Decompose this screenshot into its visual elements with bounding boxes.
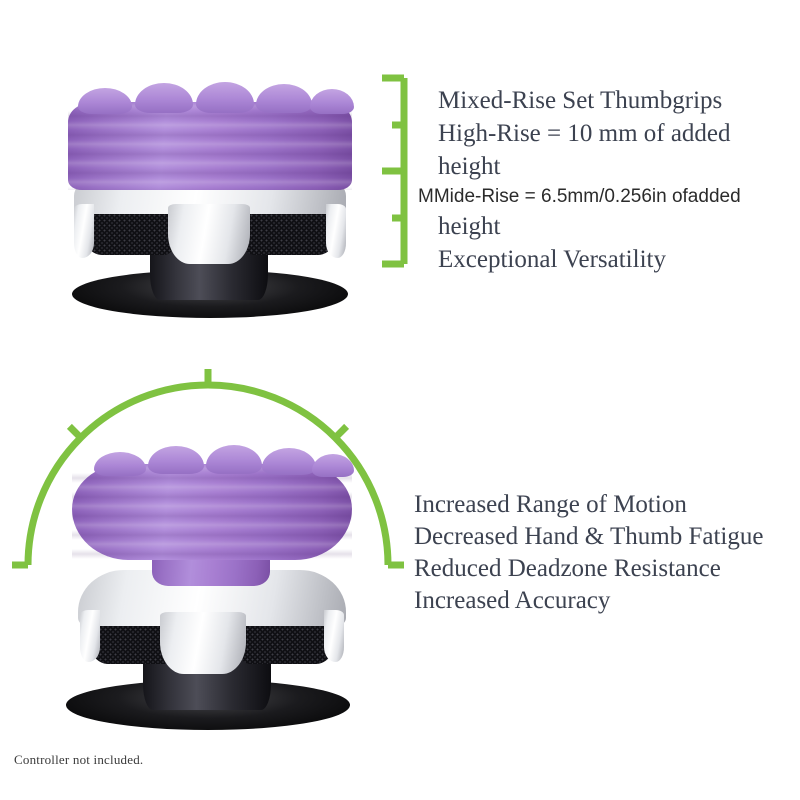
feature-line: height [438, 214, 741, 239]
white-shell-center-strut [168, 204, 250, 264]
cap-nub [78, 88, 132, 114]
feature-line-midrise: MMide-Rise = 6.5mm/0.256in ofadded [418, 187, 741, 206]
cap-nub [262, 448, 316, 475]
cap-nub [312, 454, 354, 477]
high-rise-thumbgrip-image [60, 80, 360, 320]
purple-cap-midrise [72, 464, 352, 560]
white-shell-center-strut [160, 612, 246, 674]
cap-nub [94, 452, 146, 476]
purple-cap-highrise [68, 102, 352, 190]
white-shell-left-edge [74, 204, 94, 258]
high-rise-feature-list: Mixed-Rise Set Thumbgrips High-Rise = 10… [438, 88, 741, 280]
cap-ribbing [72, 464, 352, 560]
feature-line: Exceptional Versatility [438, 247, 741, 272]
cap-ribbing [68, 102, 352, 190]
cap-nub [148, 446, 204, 474]
white-shell-right-edge [326, 204, 346, 258]
benefit-line: Increased Range of Motion [414, 492, 763, 517]
white-shell-right-edge [324, 610, 344, 662]
mid-rise-thumbgrip-image [48, 440, 368, 730]
disclaimer-text: Controller not included. [14, 752, 143, 768]
height-measure-bracket [376, 68, 420, 274]
benefit-line: Decreased Hand & Thumb Fatigue [414, 524, 763, 549]
cap-nub [196, 82, 254, 113]
benefits-list: Increased Range of Motion Decreased Hand… [414, 492, 763, 620]
cap-nub [135, 83, 193, 113]
benefit-line: Increased Accuracy [414, 588, 763, 613]
cap-nub [310, 89, 354, 114]
feature-line: height [438, 154, 741, 179]
feature-line: High-Rise = 10 mm of added [438, 121, 741, 146]
white-shell-left-edge [80, 610, 100, 662]
benefit-line: Reduced Deadzone Resistance [414, 556, 763, 581]
cap-nub [206, 445, 262, 474]
cap-nub [256, 84, 312, 113]
feature-line: Mixed-Rise Set Thumbgrips [438, 88, 741, 113]
product-infographic: Mixed-Rise Set Thumbgrips High-Rise = 10… [0, 0, 800, 800]
